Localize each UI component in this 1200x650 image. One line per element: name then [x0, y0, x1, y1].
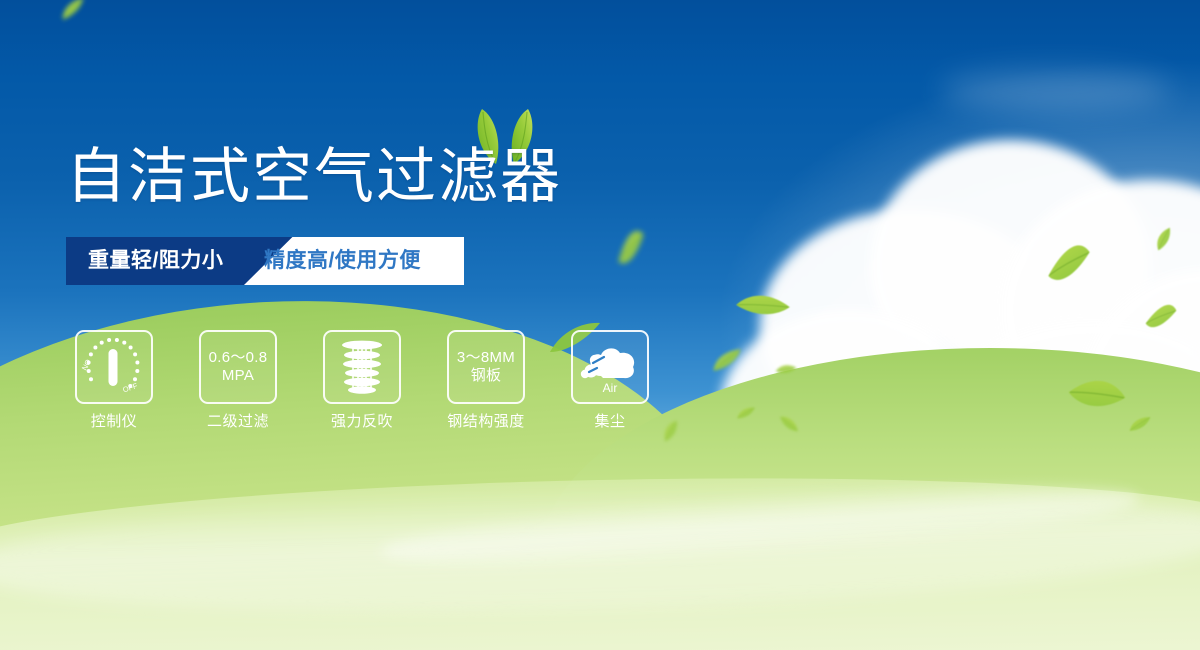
feature-item-pressure[interactable]: 0.6～0.8 MPA 二级过滤 [190, 330, 286, 431]
page-title: 自洁式空气过滤器 [66, 141, 562, 213]
feature-list: NO OFF 控制仪 0.6～0.8 MPA 二级过滤 [66, 330, 706, 440]
svg-text:NO: NO [81, 358, 93, 372]
feature-item-backblow[interactable]: 强力反吹 [314, 330, 410, 431]
feature-icon-box: 0.6～0.8 MPA [199, 330, 277, 404]
feature-icon-box: Air [571, 330, 649, 404]
feature-caption: 钢结构强度 [438, 413, 534, 431]
feature-icon-box: 3～8MM 钢板 [447, 330, 525, 404]
feature-icon-box [323, 330, 401, 404]
tagline-badge: 重量轻/阻力小 精度高/使用方便 [66, 237, 464, 285]
feature-icon-box: NO OFF [75, 330, 153, 404]
pressure-text-icon: 0.6～0.8 MPA [209, 349, 268, 385]
air-cloud-icon: Air [579, 338, 641, 396]
feature-item-steel[interactable]: 3～8MM 钢板 钢结构强度 [438, 330, 534, 431]
feature-item-dustcollect[interactable]: Air 集尘 [562, 330, 658, 431]
feature-caption: 二级过滤 [190, 413, 286, 431]
filter-cartridge-icon [336, 338, 388, 396]
feature-caption: 集尘 [562, 413, 658, 431]
feature-item-controller[interactable]: NO OFF 控制仪 [66, 330, 162, 431]
svg-text:OFF: OFF [122, 381, 139, 394]
feature-caption: 强力反吹 [314, 413, 410, 431]
feature-caption: 控制仪 [66, 413, 162, 431]
tagline-left-text: 重量轻/阻力小 [88, 237, 223, 285]
banner-stage: 自洁式空气过滤器 重量轻/阻力小 精度高/使用方便 [0, 0, 1200, 650]
gauge-dial-icon: NO OFF [81, 336, 147, 398]
tagline-right-text: 精度高/使用方便 [264, 237, 421, 285]
steel-plate-text-icon: 3～8MM 钢板 [457, 349, 515, 385]
air-label: Air [603, 381, 618, 395]
banner-content: 自洁式空气过滤器 重量轻/阻力小 精度高/使用方便 [0, 0, 1200, 650]
